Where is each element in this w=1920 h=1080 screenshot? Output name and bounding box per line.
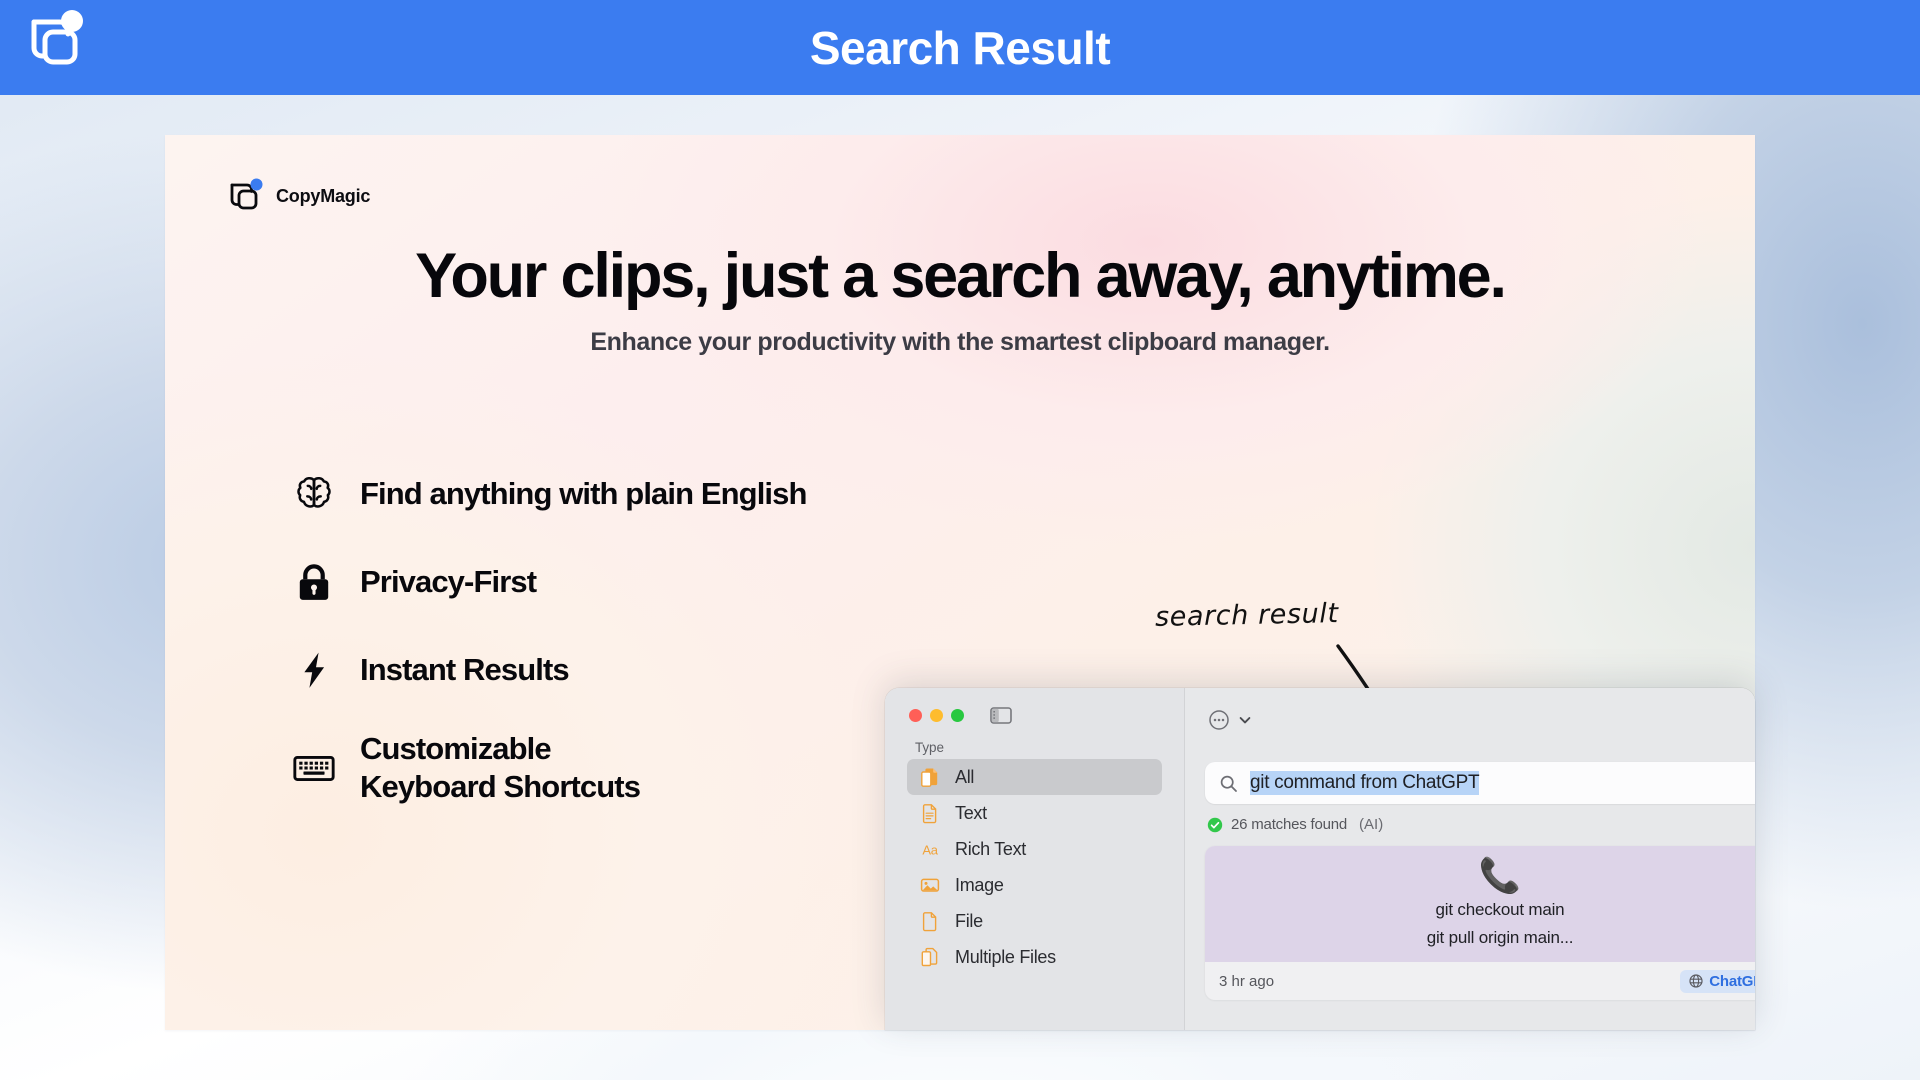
search-result-card[interactable]: 📞 git checkout main git pull origin main…: [1205, 846, 1755, 1000]
phone-emoji-icon: 📞: [1479, 859, 1521, 893]
rich-text-icon: Aa: [919, 838, 941, 860]
app-main-pane: git command from ChatGPT 26 matches foun…: [1185, 688, 1755, 1030]
page-title: Search Result: [810, 21, 1110, 75]
feature-list: Find anything with plain English Privacy…: [290, 466, 807, 806]
feature-item: Instant Results: [290, 642, 807, 698]
hero-headline: Your clips, just a search away, anytime.: [165, 242, 1755, 310]
sidebar-item-label: File: [955, 911, 983, 932]
annotation-label: search result: [1155, 598, 1339, 633]
chevron-down-icon[interactable]: [1238, 713, 1252, 727]
source-badge[interactable]: ChatGPT: [1680, 970, 1755, 993]
multi-files-icon: [919, 946, 941, 968]
result-line: git pull origin main...: [1427, 927, 1574, 949]
result-preview: 📞 git checkout main git pull origin main…: [1205, 846, 1755, 962]
sidebar-item-all[interactable]: All: [907, 759, 1162, 795]
search-input[interactable]: git command from ChatGPT: [1205, 762, 1755, 804]
zoom-window-button[interactable]: [951, 709, 964, 722]
sidebar-item-multiple-files[interactable]: Multiple Files: [907, 939, 1162, 975]
globe-icon: [1689, 974, 1703, 988]
feature-label: Customizable Keyboard Shortcuts: [360, 730, 640, 806]
copy-stack-icon: [22, 8, 94, 74]
search-mode-label: (AI): [1359, 816, 1383, 833]
sidebar-item-label: Multiple Files: [955, 947, 1056, 968]
sidebar-item-rich-text[interactable]: Aa Rich Text: [907, 831, 1162, 867]
bolt-icon: [290, 646, 338, 694]
brand-name: CopyMagic: [276, 186, 370, 207]
keyboard-icon: [290, 744, 338, 792]
minimize-window-button[interactable]: [930, 709, 943, 722]
image-icon: [919, 874, 941, 896]
source-badge-label: ChatGPT: [1709, 973, 1755, 990]
sidebar-item-label: All: [955, 767, 974, 788]
feature-label: Find anything with plain English: [360, 475, 807, 513]
file-icon: [919, 910, 941, 932]
sidebar-type-list: All Text Aa: [885, 759, 1184, 975]
close-window-button[interactable]: [909, 709, 922, 722]
top-header-bar: Search Result: [0, 0, 1920, 95]
text-doc-icon: [919, 802, 941, 824]
result-footer: 3 hr ago ChatGPT: [1205, 962, 1755, 1000]
sidebar-item-label: Text: [955, 803, 987, 824]
svg-text:Aa: Aa: [922, 843, 938, 858]
brand-lockup: CopyMagic: [227, 176, 370, 216]
sidebar-section-label: Type: [885, 724, 1184, 759]
sidebar-item-text[interactable]: Text: [907, 795, 1162, 831]
multi-doc-icon: [919, 766, 941, 788]
feature-item: Customizable Keyboard Shortcuts: [290, 730, 807, 806]
feature-label: Privacy-First: [360, 563, 536, 601]
main-toolbar: [1185, 688, 1755, 732]
sidebar-item-image[interactable]: Image: [907, 867, 1162, 903]
check-circle-icon: [1207, 817, 1223, 833]
matches-count-label: 26 matches found: [1231, 816, 1347, 833]
brain-icon: [290, 470, 338, 518]
search-status: 26 matches found (AI): [1207, 816, 1383, 833]
hero-subheadline: Enhance your productivity with the smart…: [165, 328, 1755, 357]
app-sidebar: Type All: [885, 688, 1185, 1030]
search-icon: [1219, 774, 1238, 793]
sidebar-item-file[interactable]: File: [907, 903, 1162, 939]
feature-item: Privacy-First: [290, 554, 807, 610]
copy-stack-icon: [227, 176, 267, 216]
search-input-value: git command from ChatGPT: [1250, 771, 1479, 795]
lock-icon: [290, 558, 338, 606]
window-controls: [885, 688, 1184, 724]
result-line: git checkout main: [1436, 899, 1565, 921]
app-window: Type All: [885, 688, 1755, 1030]
result-timestamp: 3 hr ago: [1219, 973, 1274, 990]
sidebar-item-label: Rich Text: [955, 839, 1026, 860]
more-circle-icon[interactable]: [1207, 708, 1231, 732]
feature-label: Instant Results: [360, 651, 569, 689]
sidebar-toggle-icon[interactable]: [990, 707, 1012, 724]
feature-item: Find anything with plain English: [290, 466, 807, 522]
sidebar-item-label: Image: [955, 875, 1004, 896]
